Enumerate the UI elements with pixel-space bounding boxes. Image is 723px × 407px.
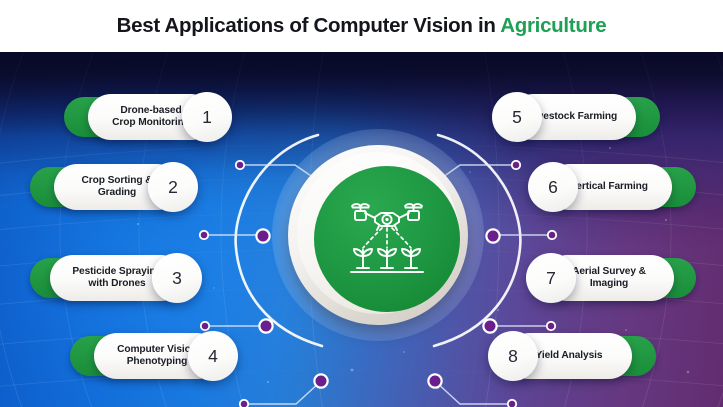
medallion-disc: [314, 166, 460, 312]
item-number-8: 8: [488, 331, 538, 381]
item-number-4: 4: [188, 331, 238, 381]
item-number-6: 6: [528, 162, 578, 212]
item-label-8: Yield Analysis: [536, 350, 603, 362]
arc-node-4: [314, 374, 327, 387]
item-label-6: Vertical Farming: [570, 181, 648, 193]
item-number-7: 7: [526, 253, 576, 303]
leader-line-4: [245, 382, 320, 404]
item-yield-analysis[interactable]: Yield Analysis 8: [488, 333, 656, 379]
item-number-2: 2: [148, 162, 198, 212]
arc-node-8: [428, 374, 441, 387]
arc-node-6: [486, 229, 499, 242]
header-bar: Best Applications of Computer Vision in …: [0, 0, 723, 52]
page-title-accent: Agriculture: [500, 14, 606, 37]
leader-line-8: [436, 382, 511, 404]
item-livestock-farming[interactable]: Livestock Farming 5: [492, 94, 660, 140]
item-label-7: Aerial Survey & Imaging: [572, 266, 646, 291]
leader-dot-4: [240, 400, 248, 407]
drone-crop-monitoring-icon: [341, 198, 433, 280]
item-label-2: Crop Sorting & Grading: [81, 175, 152, 200]
item-number-1: 1: [182, 92, 232, 142]
item-crop-sorting-grading[interactable]: Crop Sorting & Grading 2: [30, 164, 198, 210]
leader-dot-1: [236, 161, 244, 169]
medallion-ring-outer: [288, 145, 468, 325]
medallion-ring-inner: [297, 152, 459, 314]
page-title: Best Applications of Computer Vision in …: [117, 14, 607, 38]
arc-node-2: [256, 229, 269, 242]
leader-dot-7: [547, 322, 555, 330]
leader-dot-2: [200, 231, 208, 239]
infographic-root: Best Applications of Computer Vision in …: [0, 0, 723, 407]
leader-dot-6: [548, 231, 556, 239]
item-computer-vision-phenotyping[interactable]: Computer Vision Phenotyping 4: [70, 333, 238, 379]
item-vertical-farming[interactable]: Vertical Farming 6: [528, 164, 696, 210]
infographic-canvas: Drone-based Crop Monitoring 1 Crop Sorti…: [0, 52, 723, 407]
leader-dot-3: [201, 322, 209, 330]
item-label-4: Computer Vision Phenotyping: [117, 344, 197, 369]
item-number-3: 3: [152, 253, 202, 303]
item-pesticide-spraying-with-drones[interactable]: Pesticide Spraying with Drones 3: [30, 255, 202, 301]
item-label-1: Drone-based Crop Monitoring: [112, 105, 190, 130]
page-title-main: Best Applications of Computer Vision in: [117, 14, 501, 37]
item-label-3: Pesticide Spraying with Drones: [72, 266, 161, 291]
arc-node-3: [259, 319, 272, 332]
arc-node-7: [483, 319, 496, 332]
center-medallion: [288, 145, 468, 325]
item-label-5: Livestock Farming: [529, 111, 617, 123]
item-aerial-survey-imaging[interactable]: Aerial Survey & Imaging 7: [526, 255, 696, 301]
item-drone-based-crop-monitoring[interactable]: Drone-based Crop Monitoring 1: [64, 94, 232, 140]
leader-dot-8: [508, 400, 516, 407]
leader-dot-5: [512, 161, 520, 169]
item-number-5: 5: [492, 92, 542, 142]
